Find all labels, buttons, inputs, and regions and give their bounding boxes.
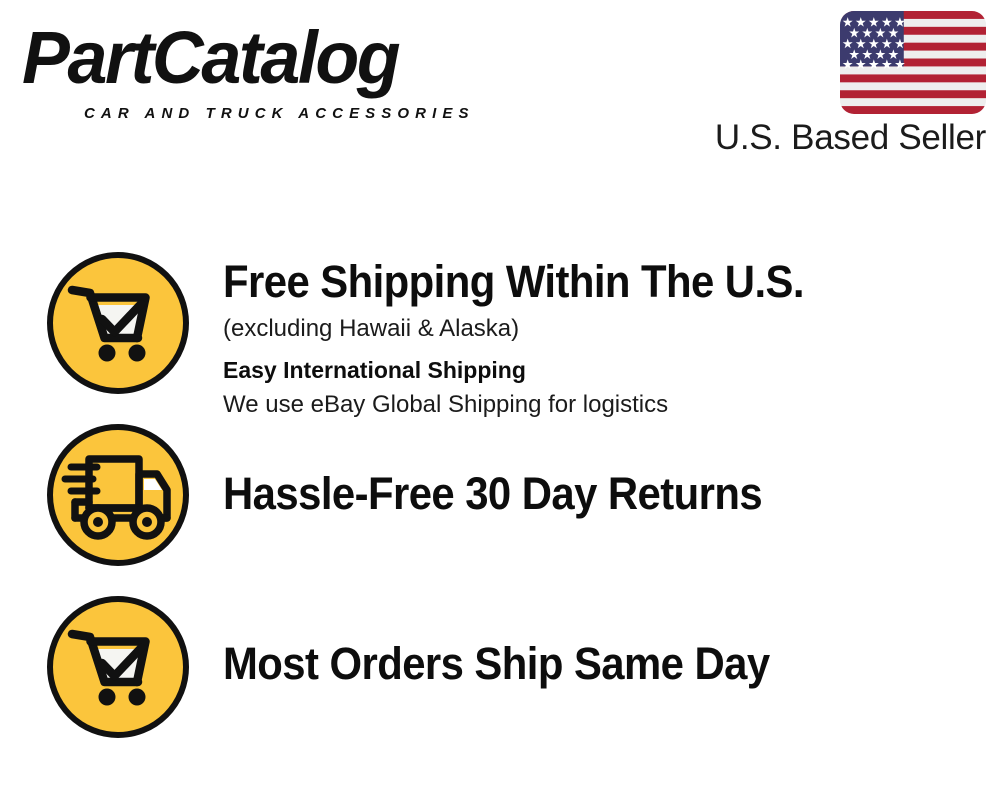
feature-sub-heading: Easy International Shipping	[223, 354, 983, 386]
feature-text-block: Hassle-Free 30 Day Returns	[223, 468, 983, 520]
shopping-cart-check-icon	[45, 594, 191, 740]
feature-row: Most Orders Ship Same Day	[0, 594, 1000, 742]
feature-sub-note: We use eBay Global Shipping for logistic…	[223, 388, 983, 421]
feature-row: Hassle-Free 30 Day Returns	[0, 422, 1000, 570]
shipping-policy-banner: PartCatalog CAR AND TRUCK ACCESSORIES	[0, 0, 1000, 800]
delivery-truck-icon	[45, 422, 191, 568]
feature-text-block: Free Shipping Within The U.S. (excluding…	[223, 256, 983, 421]
feature-headline: Free Shipping Within The U.S.	[223, 256, 930, 308]
feature-note: (excluding Hawaii & Alaska)	[223, 312, 983, 345]
feature-list: Free Shipping Within The U.S. (excluding…	[0, 0, 1000, 800]
feature-text-block: Most Orders Ship Same Day	[223, 638, 983, 690]
feature-headline: Hassle-Free 30 Day Returns	[223, 468, 930, 520]
feature-row: Free Shipping Within The U.S. (excluding…	[0, 250, 1000, 400]
shopping-cart-check-icon	[45, 250, 191, 396]
feature-headline: Most Orders Ship Same Day	[223, 638, 930, 690]
